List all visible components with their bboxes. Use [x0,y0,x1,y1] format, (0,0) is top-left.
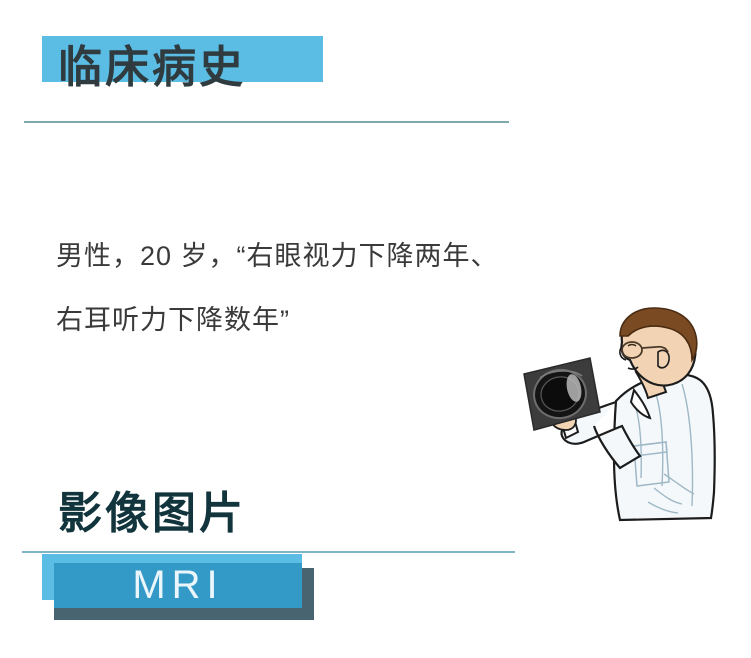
clinical-history-divider [24,121,509,123]
clinical-history-heading: 临床病史 [58,42,246,95]
slide-root: 临床病史 男性，20 岁，“右眼视力下降两年、 右耳听力下降数年” [0,0,751,658]
mri-modality-label: MRI [54,563,302,608]
imaging-heading: 影像图片 [58,488,246,541]
doctor-illustration [516,306,751,556]
ear [658,350,669,367]
imaging-divider [22,551,515,553]
case-description-line-1: 男性，20 岁，“右眼视力下降两年、 [56,224,616,288]
